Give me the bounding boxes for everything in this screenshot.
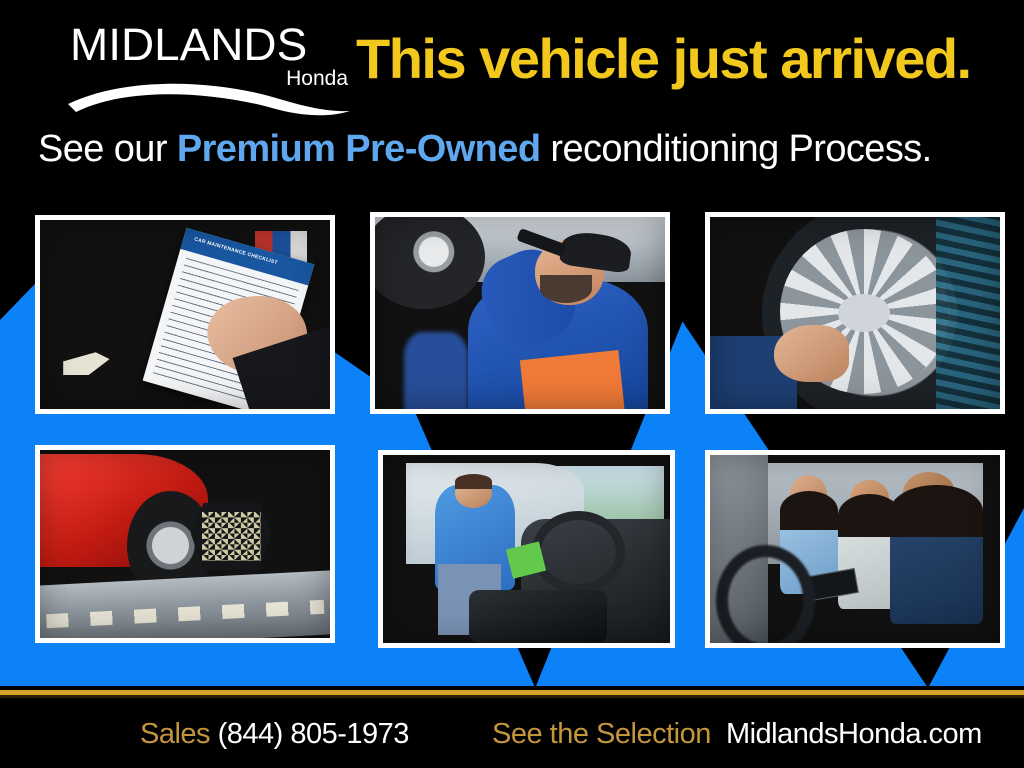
steering-wheel-shape — [716, 545, 815, 643]
photo-tile-inspection-checklist[interactable]: CAR MAINTENANCE CHECKLIST — [35, 215, 335, 414]
dipstick-shape — [63, 352, 109, 375]
photo-tile-interior-detailing[interactable] — [378, 450, 675, 648]
photo-undercarriage-inspection — [375, 217, 665, 409]
logo-wordmark: MIDLANDS — [70, 22, 356, 68]
tire-shape — [375, 217, 485, 309]
photo-interior-detailing — [383, 455, 670, 643]
sales-phone[interactable] — [210, 718, 218, 750]
photo-tile-undercarriage-inspection[interactable] — [370, 212, 670, 414]
dealer-logo: MIDLANDS Honda — [70, 22, 350, 102]
gold-divider-shadow — [0, 695, 1024, 698]
photo-wheel-tire-service — [710, 217, 1000, 409]
photo-tile-customer-delivery[interactable] — [705, 450, 1005, 648]
alignment-target-shape — [191, 503, 272, 571]
ad-header: MIDLANDS Honda This vehicle just arrived… — [0, 0, 1024, 190]
center-console-shape — [469, 590, 607, 643]
subheadline: See our Premium Pre-Owned reconditioning… — [38, 128, 932, 171]
subheadline-prefix: See our — [38, 128, 177, 170]
photo-wheel-alignment — [40, 450, 330, 638]
headline: This vehicle just arrived. — [356, 26, 971, 91]
photo-inspection-checklist: CAR MAINTENANCE CHECKLIST — [40, 220, 330, 409]
sales-label: Sales — [140, 718, 210, 750]
photo-customer-delivery — [710, 455, 1000, 643]
detailer-hair-shape — [455, 474, 492, 489]
see-the-selection-label: See the Selection — [492, 718, 711, 750]
ad-footer: Sales (844) 805-1973 See the Selection M… — [0, 700, 1024, 768]
wheel-hub-shape — [838, 294, 890, 332]
orange-clipboard-shape — [520, 350, 625, 409]
website-cta[interactable]: See the Selection MidlandsHonda.com — [492, 718, 982, 751]
background-person-shape — [404, 332, 468, 409]
sales-phone-number[interactable]: (844) 805-1973 — [218, 718, 409, 750]
website-url[interactable]: MidlandsHonda.com — [726, 718, 982, 750]
sales-contact[interactable]: Sales (844) 805-1973 — [140, 718, 409, 751]
hand-shape — [774, 325, 849, 383]
tire-tread-shape — [936, 217, 1000, 409]
swoosh-icon — [66, 78, 352, 118]
photo-tile-wheel-tire-service[interactable] — [705, 212, 1005, 414]
midlands-honda-ad: MIDLANDS Honda This vehicle just arrived… — [0, 0, 1024, 768]
photo-tile-wheel-alignment[interactable] — [35, 445, 335, 643]
customer-two-shape — [890, 493, 983, 625]
alignment-rack-shape — [40, 570, 330, 638]
steering-wheel-shape — [532, 511, 625, 593]
subheadline-suffix: reconditioning Process. — [540, 128, 931, 170]
subheadline-highlight: Premium Pre-Owned — [177, 128, 541, 170]
